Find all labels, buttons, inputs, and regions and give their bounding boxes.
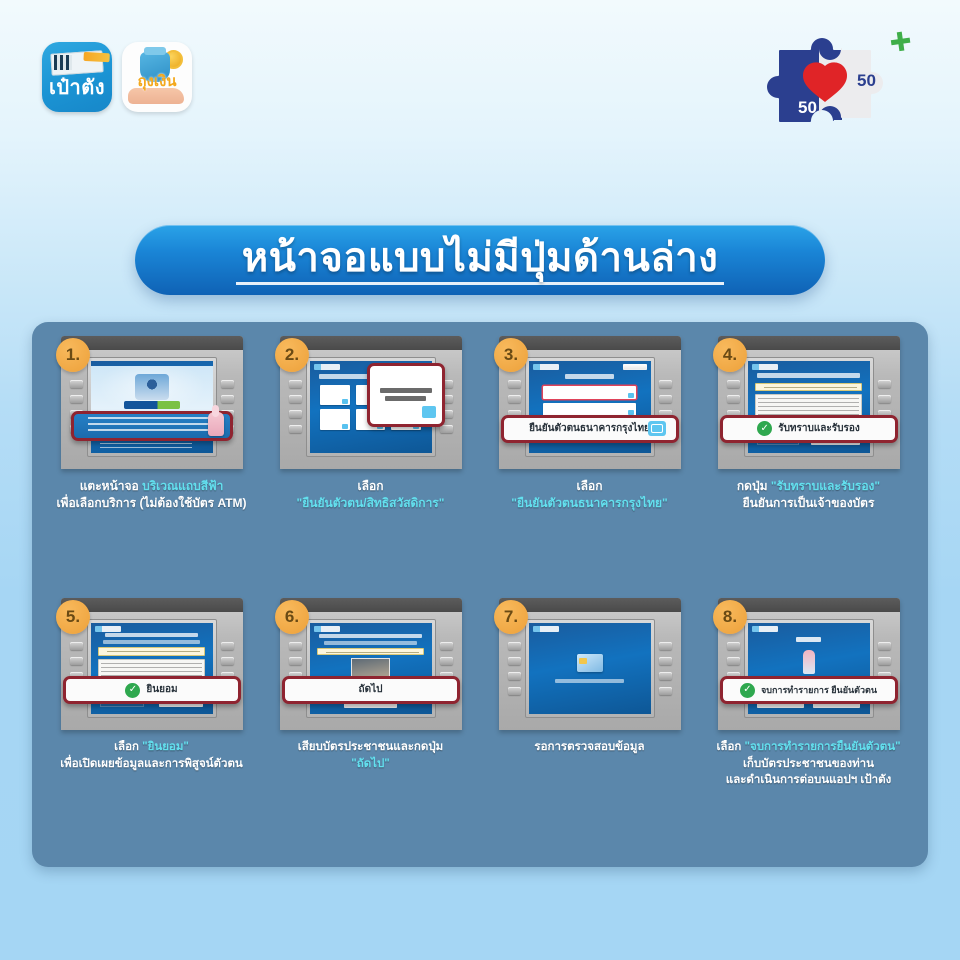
menu-tile[interactable] xyxy=(320,409,349,429)
caption-line-3-plain: และดำเนินการต่อบนแอปฯ เป้าตัง xyxy=(726,774,891,786)
caption-line-1-plain: เลือก xyxy=(114,741,142,753)
thung-ngen-logo-label: ถุงเงิน xyxy=(122,69,192,93)
hand-pointer-icon xyxy=(208,412,224,436)
callout-text-lines xyxy=(80,417,224,434)
success-heading xyxy=(796,637,820,642)
check-icon: ✓ xyxy=(125,683,140,698)
processing-text xyxy=(555,679,623,683)
screen-subheading xyxy=(324,641,417,645)
caption-line-2-highlight: "ยืนยันตัวตน/สิทธิสวัสดิการ" xyxy=(297,496,445,510)
step-caption: รอการตรวจสอบข้อมูล xyxy=(534,739,644,756)
step-5: 5. xyxy=(42,598,261,860)
person-illustration xyxy=(803,650,815,674)
caption-line-1-plain: แตะหน้าจอ xyxy=(80,479,142,493)
check-icon: ✓ xyxy=(757,421,772,436)
step-number-badge: 8. xyxy=(713,600,747,634)
caption-line-1-highlight: "รับทราบและรับรอง" xyxy=(771,479,880,493)
bank-logo-icon xyxy=(533,364,559,370)
step-3: 3. xyxy=(480,336,699,598)
step-caption: เลือก "จบการทำรายการยืนยันตัวตน" เก็บบัต… xyxy=(716,739,900,789)
screen-heading xyxy=(565,374,614,379)
warning-box xyxy=(755,383,862,391)
bank-logo-icon xyxy=(95,626,121,632)
atm-inner xyxy=(70,357,234,457)
header-logos: เป๋าตัง ถุงเงิน xyxy=(42,42,192,112)
step-number-badge: 3. xyxy=(494,338,528,372)
callout-text-line xyxy=(380,388,432,393)
step-caption: เลือก "ยินยอม" เพื่อเปิดเผยข้อมูลและการพ… xyxy=(60,739,243,772)
steps-panel: 1. xyxy=(32,322,928,867)
caption-line-1-highlight: "ยินยอม" xyxy=(142,741,189,753)
puzzle-left-value: 50 xyxy=(798,98,817,117)
caption-line-2-plain: ยืนยันการเป็นเจ้าของบัตร xyxy=(743,496,875,510)
caption-line-2-plain: เพื่อเปิดเผยข้อมูลและการพิสูจน์ตัวตน xyxy=(60,758,243,770)
atm-screen-frame xyxy=(87,357,217,457)
caption-line-2-plain: เก็บบัตรประชาชนของท่าน xyxy=(743,758,874,770)
highlight-callout[interactable] xyxy=(71,411,233,441)
callout-text-line xyxy=(385,396,426,401)
steps-grid: 1. xyxy=(32,322,928,867)
page-title-banner: หน้าจอแบบไม่มีปุ่มด้านล่าง xyxy=(135,225,825,295)
step-8: 8. xyxy=(699,598,918,860)
page-title: หน้าจอแบบไม่มีปุ่มด้านล่าง xyxy=(236,236,725,285)
caption-line-1-plain: กดปุ่ม xyxy=(737,479,771,493)
step-caption: กดปุ่ม "รับทราบและรับรอง" ยืนยันการเป็นเ… xyxy=(737,478,880,513)
caption-line-2-highlight: "ถัดไป" xyxy=(351,758,389,770)
caption-line-1-highlight: บริเวณแถบสีฟ้า xyxy=(142,479,223,493)
selection-icon xyxy=(648,421,666,436)
processing-card-icon xyxy=(577,654,603,672)
bank-logo-icon xyxy=(752,626,778,632)
caption-line-1-highlight: "จบการทำรายการยืนยันตัวตน" xyxy=(745,741,901,753)
promo-headline xyxy=(124,401,180,409)
atm-softkeys-right[interactable] xyxy=(659,619,672,719)
callout-label: ถัดไป xyxy=(359,684,383,696)
warning-box xyxy=(317,648,424,654)
step-caption: เลือก "ยืนยันตัวตน/สิทธิสวัสดิการ" xyxy=(297,478,445,513)
step-7: 7. xyxy=(480,598,699,860)
qr-icon xyxy=(54,55,72,70)
check-icon: ✓ xyxy=(740,683,755,698)
highlight-callout[interactable]: ยืนยันตัวตนธนาคารกรุงไทย xyxy=(501,415,679,443)
step-number-badge: 5. xyxy=(56,600,90,634)
bank-logo-icon xyxy=(752,364,778,370)
atm-inner xyxy=(508,619,672,719)
selection-icon xyxy=(422,406,436,418)
step-number-badge: 1. xyxy=(56,338,90,372)
bank-logo-icon xyxy=(314,364,340,370)
step-number-badge: 7. xyxy=(494,600,528,634)
option-row[interactable] xyxy=(543,403,636,416)
caption-line-1-plain: เลือก xyxy=(358,479,384,493)
caption-line-1-plain: เลือก xyxy=(716,741,744,753)
caption-line-1-plain: รอการตรวจสอบข้อมูล xyxy=(534,741,644,753)
screen-heading xyxy=(319,634,422,638)
highlight-callout[interactable]: ถัดไป xyxy=(282,676,460,704)
warning-box xyxy=(98,647,205,656)
highlight-callout[interactable]: ✓ รับทราบและรับรอง xyxy=(720,415,898,443)
caption-line-1-plain: เลือก xyxy=(577,479,603,493)
step-caption: เสียบบัตรประชาชนและกดปุ่ม "ถัดไป" xyxy=(298,739,443,772)
promo-people-image xyxy=(135,374,169,400)
callout-label: ยืนยันตัวตนธนาคารกรุงไทย xyxy=(529,423,650,435)
step-2: 2. xyxy=(261,336,480,598)
highlight-callout[interactable]: ✓ จบการทำรายการ ยืนยันตัวตน xyxy=(720,676,898,704)
highlight-callout[interactable]: ✓ ยินยอม xyxy=(63,676,241,704)
step-4: 4. xyxy=(699,336,918,598)
puzzle-right-value: 50 xyxy=(857,71,876,90)
language-button[interactable] xyxy=(623,364,647,370)
screen-heading xyxy=(757,373,860,378)
paotang-logo-label: เป๋าตัง xyxy=(42,71,112,103)
bank-logo-icon xyxy=(314,626,340,632)
caption-line-2-highlight: "ยืนยันตัวตนธนาคารกรุงไทย" xyxy=(511,496,667,510)
atm-screen[interactable] xyxy=(529,623,651,715)
option-row-selected[interactable] xyxy=(543,386,636,399)
callout-label: ยินยอม xyxy=(146,684,177,696)
atm-screen-frame xyxy=(525,619,655,719)
step-caption: เลือก "ยืนยันตัวตนธนาคารกรุงไทย" xyxy=(511,478,667,513)
khon-la-khrueng-puzzle-logo: 50 50 xyxy=(750,28,920,133)
bank-logo-icon xyxy=(533,626,559,632)
highlight-callout[interactable] xyxy=(367,363,445,427)
callout-label: จบการทำรายการ ยืนยันตัวตน xyxy=(761,685,877,696)
thung-ngen-logo: ถุงเงิน xyxy=(122,42,192,112)
caption-line-1-plain: เสียบบัตรประชาชนและกดปุ่ม xyxy=(298,741,443,753)
screen-heading xyxy=(105,633,198,637)
caption-line-2-plain: เพื่อเลือกบริการ (ไม่ต้องใช้บัตร ATM) xyxy=(56,496,246,510)
step-number-badge: 2. xyxy=(275,338,309,372)
callout-label: รับทราบและรับรอง xyxy=(778,423,860,435)
step-1: 1. xyxy=(42,336,261,598)
step-number-badge: 6. xyxy=(275,600,309,634)
step-6: 6. xyxy=(261,598,480,860)
atm-softkeys-right[interactable] xyxy=(221,357,234,457)
step-caption: แตะหน้าจอ บริเวณแถบสีฟ้า เพื่อเลือกบริกา… xyxy=(56,478,246,513)
plus-icon xyxy=(891,32,911,52)
step-number-badge: 4. xyxy=(713,338,747,372)
screen-subheading xyxy=(103,640,201,644)
menu-tile[interactable] xyxy=(320,385,349,405)
paotang-app-logo: เป๋าตัง xyxy=(42,42,112,112)
